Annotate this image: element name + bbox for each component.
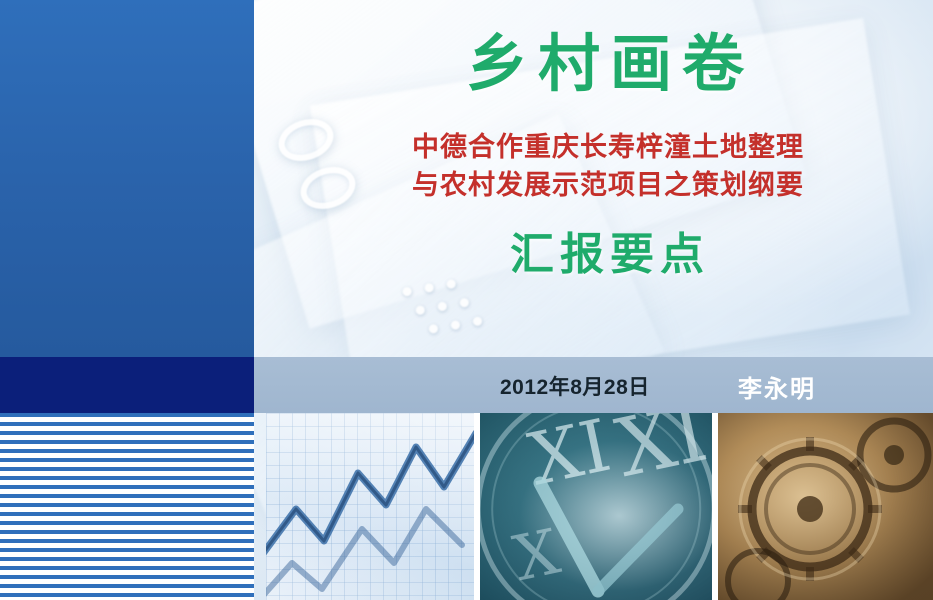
gear-icon — [718, 413, 933, 600]
slide-canvas: 2012年8月28日 李永明 乡村画卷 中德合作重庆长寿梓潼土地整理 与农村发展… — [0, 0, 933, 600]
subtitle-line-1: 中德合作重庆长寿梓潼土地整理 — [318, 128, 898, 166]
striped-block — [0, 413, 254, 600]
page-title: 乡村画卷 — [330, 32, 890, 97]
navy-block — [0, 357, 254, 413]
bottom-strip: XI XII X — [0, 413, 933, 600]
chart-photo — [266, 413, 474, 600]
subtitle: 中德合作重庆长寿梓潼土地整理 与农村发展示范项目之策划纲要 — [318, 128, 898, 205]
section-title: 汇报要点 — [330, 218, 890, 282]
left-blue-sidebar — [0, 0, 254, 357]
clock-icon: XI XII X — [480, 413, 712, 600]
presenter-name: 李永明 — [738, 369, 816, 404]
info-band: 2012年8月28日 李永明 — [254, 357, 933, 413]
clock-photo: XI XII X — [480, 413, 712, 600]
subtitle-line-2: 与农村发展示范项目之策划纲要 — [318, 166, 898, 204]
chart-line-icon — [266, 413, 474, 600]
presentation-date: 2012年8月28日 — [500, 371, 650, 401]
gears-photo — [718, 413, 933, 600]
